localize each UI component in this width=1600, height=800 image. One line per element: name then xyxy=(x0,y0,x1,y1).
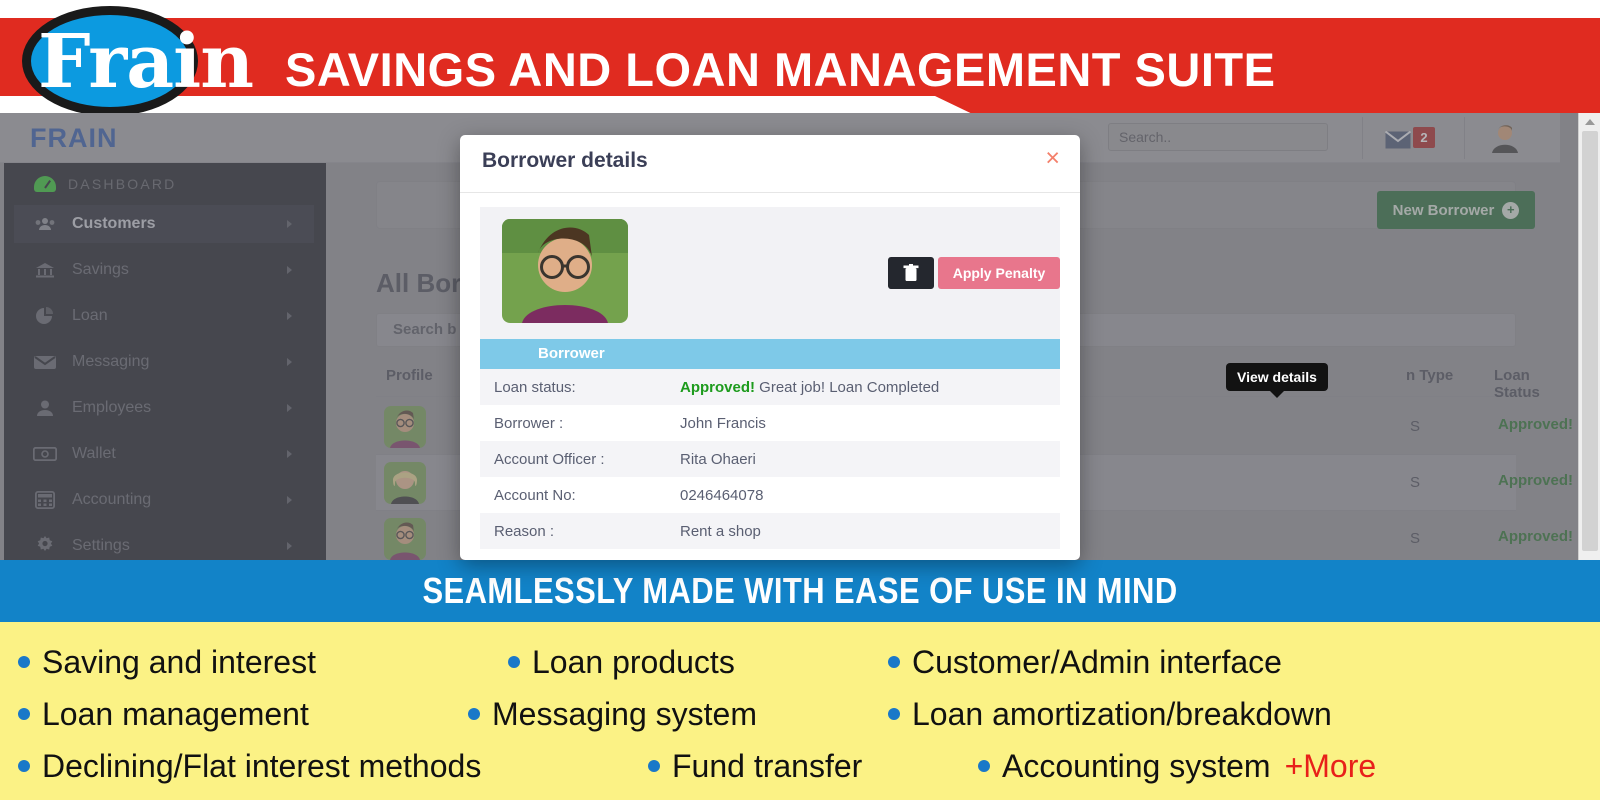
chevron-right-icon xyxy=(287,358,292,366)
feature-item: Customer/Admin interface xyxy=(888,644,1282,681)
sidebar-item-wallet[interactable]: Wallet xyxy=(14,435,314,473)
feature-label: Loan management xyxy=(42,696,309,733)
feature-label: Declining/Flat interest methods xyxy=(42,748,481,785)
new-borrower-button[interactable]: New Borrower + xyxy=(1377,191,1535,229)
cell-loan-status: Approved! xyxy=(1498,416,1573,433)
borrower-photo xyxy=(502,219,628,323)
sidebar-item-accounting[interactable]: Accounting xyxy=(14,481,314,519)
trash-icon xyxy=(903,264,919,282)
topbar-divider-2 xyxy=(1464,117,1465,159)
detail-value: John Francis xyxy=(680,415,766,432)
bank-icon xyxy=(32,260,58,280)
cell-loan-type: S xyxy=(1410,474,1420,491)
chevron-right-icon xyxy=(287,404,292,412)
gear-icon xyxy=(32,536,58,556)
feature-row: Loan management Messaging system Loan am… xyxy=(18,688,1582,740)
column-loan-status: Loan Status xyxy=(1494,367,1540,401)
sidebar-item-savings[interactable]: Savings xyxy=(14,251,314,289)
bullet-icon xyxy=(978,760,990,772)
bullet-icon xyxy=(18,760,30,772)
dashboard-icon xyxy=(34,176,56,192)
detail-value-text: Great job! Loan Completed xyxy=(755,379,939,396)
chevron-right-icon xyxy=(287,542,292,550)
close-icon[interactable]: × xyxy=(1045,146,1060,171)
envelope-icon xyxy=(32,352,58,372)
user-icon xyxy=(32,398,58,418)
calculator-icon xyxy=(32,490,58,510)
borrower-photo-block: Apply Penalty xyxy=(480,207,1060,339)
bullet-icon xyxy=(648,760,660,772)
chevron-right-icon xyxy=(287,312,292,320)
column-profile: Profile xyxy=(386,367,433,384)
sidebar-item-label: Employees xyxy=(72,399,151,417)
feature-row: Declining/Flat interest methods Fund tra… xyxy=(18,740,1582,792)
bullet-icon xyxy=(888,656,900,668)
feature-item: Saving and interest xyxy=(18,644,508,681)
users-icon xyxy=(32,214,58,234)
sidebar-item-label: Savings xyxy=(72,261,129,279)
sidebar-item-customers[interactable]: Customers xyxy=(14,205,314,243)
feature-item: Loan amortization/breakdown xyxy=(888,696,1332,733)
global-search-input[interactable]: Search.. xyxy=(1108,123,1328,151)
sidebar-item-messaging[interactable]: Messaging xyxy=(14,343,314,381)
feature-label: Fund transfer xyxy=(672,748,862,785)
feature-label: Messaging system xyxy=(492,696,757,733)
feature-item: Declining/Flat interest methods xyxy=(18,748,648,785)
envelope-icon xyxy=(1385,131,1411,149)
promo-headline: SAVINGS AND LOAN MANAGEMENT SUITE xyxy=(285,42,1275,97)
promo-blue-bar: SEAMLESSLY MADE WITH EASE OF USE IN MIND xyxy=(0,560,1600,622)
cell-loan-status: Approved! xyxy=(1498,528,1573,545)
sidebar-item-label: Messaging xyxy=(72,353,149,371)
chevron-right-icon xyxy=(287,220,292,228)
chevron-right-icon xyxy=(287,496,292,504)
money-icon xyxy=(32,444,58,464)
pie-chart-icon xyxy=(32,306,58,326)
feature-label: Accounting system xyxy=(1002,748,1271,785)
detail-row: Loan status: Approved! Great job! Loan C… xyxy=(480,369,1060,405)
topbar-divider-1 xyxy=(1362,117,1363,159)
more-label: +More xyxy=(1285,748,1377,785)
borrower-details-modal: Borrower details × Apply Penalty Borrowe… xyxy=(460,135,1080,560)
detail-row: Borrower : John Francis xyxy=(480,405,1060,441)
detail-value: 0246464078 xyxy=(680,487,763,504)
detail-row: Reason : Rent a shop xyxy=(480,513,1060,549)
user-avatar[interactable] xyxy=(1490,123,1520,153)
detail-value: Approved! Great job! Loan Completed xyxy=(680,379,939,396)
apply-penalty-button[interactable]: Apply Penalty xyxy=(938,257,1060,289)
modal-title: Borrower details xyxy=(482,149,648,173)
detail-key: Loan status: xyxy=(480,379,680,396)
detail-value-strong: Approved! xyxy=(680,379,755,396)
detail-key: Borrower : xyxy=(480,415,680,432)
promo-features: Saving and interest Loan products Custom… xyxy=(0,622,1600,800)
app-logo: FRAIN xyxy=(30,123,118,154)
bullet-icon xyxy=(508,656,520,668)
avatar xyxy=(384,518,426,560)
sidebar-dashboard[interactable]: DASHBOARD xyxy=(34,176,176,192)
cell-loan-status: Approved! xyxy=(1498,472,1573,489)
promo-blue-bar-text: SEAMLESSLY MADE WITH EASE OF USE IN MIND xyxy=(422,570,1177,612)
feature-label: Loan products xyxy=(532,644,735,681)
detail-key: Reason : xyxy=(480,523,680,540)
feature-item: Fund transfer xyxy=(648,748,978,785)
detail-key: Account Officer : xyxy=(480,451,680,468)
delete-button[interactable] xyxy=(888,257,934,289)
message-count-badge: 2 xyxy=(1413,127,1435,148)
feature-label: Saving and interest xyxy=(42,644,316,681)
scrollbar-thumb[interactable] xyxy=(1582,131,1598,551)
avatar xyxy=(384,406,426,448)
view-details-tooltip: View details xyxy=(1226,363,1328,391)
cell-loan-type: S xyxy=(1410,418,1420,435)
sidebar-item-loan[interactable]: Loan xyxy=(14,297,314,335)
feature-item: Loan management xyxy=(18,696,468,733)
detail-row: Account Officer : Rita Ohaeri xyxy=(480,441,1060,477)
feature-item: Loan products xyxy=(508,644,888,681)
sidebar-item-label: Customers xyxy=(72,215,156,233)
detail-row: Account No: 0246464078 xyxy=(480,477,1060,513)
sidebar-item-label: Wallet xyxy=(72,445,116,463)
bullet-icon xyxy=(18,656,30,668)
sidebar-item-label: Settings xyxy=(72,537,130,555)
chevron-right-icon xyxy=(287,266,292,274)
feature-label: Customer/Admin interface xyxy=(912,644,1282,681)
feature-item: Messaging system xyxy=(468,696,888,733)
modal-body: Apply Penalty Borrower Loan status: Appr… xyxy=(460,193,1080,549)
detail-value: Rent a shop xyxy=(680,523,761,540)
page-scrollbar[interactable] xyxy=(1578,113,1600,560)
cell-loan-type: S xyxy=(1410,530,1420,547)
bullet-icon xyxy=(468,708,480,720)
modal-header: Borrower details × xyxy=(460,135,1080,193)
feature-row: Saving and interest Loan products Custom… xyxy=(18,636,1582,688)
details-section-header: Borrower xyxy=(480,339,1060,369)
feature-item: Accounting system+More xyxy=(978,748,1376,785)
column-loan-type: n Type xyxy=(1406,367,1453,384)
sidebar-item-label: Accounting xyxy=(72,491,151,509)
scroll-up-arrow-icon[interactable] xyxy=(1582,114,1598,130)
bullet-icon xyxy=(888,708,900,720)
detail-key: Account No: xyxy=(480,487,680,504)
chevron-right-icon xyxy=(287,450,292,458)
sidebar-item-settings[interactable]: Settings xyxy=(14,527,314,560)
sidebar-item-employees[interactable]: Employees xyxy=(14,389,314,427)
feature-label: Loan amortization/breakdown xyxy=(912,696,1332,733)
avatar xyxy=(384,462,426,504)
sidebar-dashboard-label: DASHBOARD xyxy=(68,176,176,192)
messages-button[interactable]: 2 xyxy=(1385,127,1445,153)
bullet-icon xyxy=(18,708,30,720)
new-borrower-label: New Borrower xyxy=(1393,202,1495,219)
sidebar-item-label: Loan xyxy=(72,307,108,325)
plus-icon: + xyxy=(1502,202,1519,219)
sidebar: DASHBOARD Customers Savings xyxy=(4,163,326,560)
promo-screenshot: Frain SAVINGS AND LOAN MANAGEMENT SUITE … xyxy=(0,0,1600,800)
detail-value: Rita Ohaeri xyxy=(680,451,756,468)
brand-wordmark: Frain xyxy=(38,22,298,102)
